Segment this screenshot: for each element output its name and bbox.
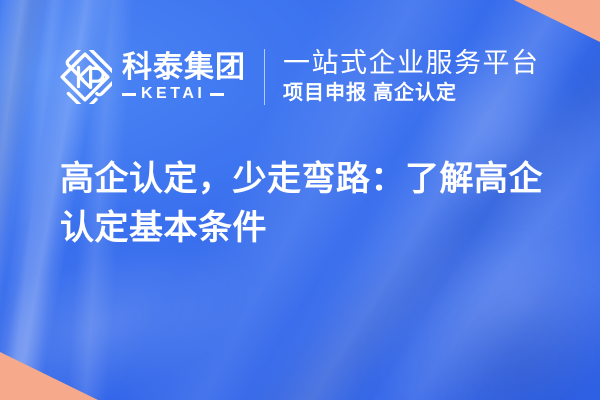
logo-name-cn: 科泰集团: [122, 52, 246, 83]
logo-wordmark: 科泰集团 KETAI: [122, 52, 246, 102]
logo-dash-right-icon: [210, 93, 224, 96]
logo-name-en-row: KETAI: [122, 86, 246, 102]
banner-header: 科泰集团 KETAI 一站式企业服务平台 项目申报 高企认定: [58, 44, 540, 110]
header-divider: [264, 49, 265, 105]
tagline-sub: 项目申报 高企认定: [283, 81, 540, 106]
kp-monogram-diamond-icon: [58, 50, 112, 104]
tagline-main: 一站式企业服务平台: [283, 48, 540, 78]
promo-banner: 科泰集团 KETAI 一站式企业服务平台 项目申报 高企认定 高企认定，少走弯路…: [0, 0, 600, 400]
page-title: 高企认定，少走弯路：了解高企认定基本条件: [60, 155, 560, 254]
logo-name-en: KETAI: [141, 86, 205, 102]
tagline-block: 一站式企业服务平台 项目申报 高企认定: [283, 48, 540, 105]
logo-dash-left-icon: [122, 93, 136, 96]
